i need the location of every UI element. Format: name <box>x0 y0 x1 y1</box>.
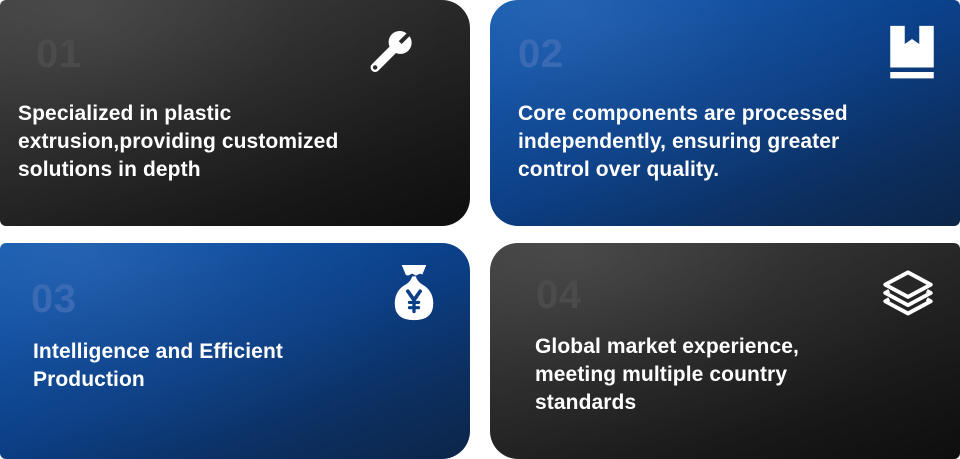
card-number-04: 04 <box>536 275 582 315</box>
book-bookmark-icon <box>886 24 938 82</box>
feature-card-03[interactable]: 03 Intelligence and Efficient Production <box>0 243 470 459</box>
feature-card-02[interactable]: 02 Core components are processed indepen… <box>490 0 960 226</box>
layers-stack-icon <box>880 268 936 324</box>
card-number-02: 02 <box>518 34 564 74</box>
feature-card-04[interactable]: 04 Global market experience, meeting mul… <box>490 243 960 459</box>
money-bag-yen-icon <box>386 262 442 324</box>
feature-card-01[interactable]: 01 Specialized in plastic extrusion,prov… <box>0 0 470 226</box>
card-title-04: Global market experience, meeting multip… <box>535 333 935 417</box>
card-content: 04 Global market experience, meeting mul… <box>490 243 960 459</box>
card-content: 03 Intelligence and Efficient Production <box>0 243 470 459</box>
card-number-01: 01 <box>36 34 82 74</box>
wrench-icon <box>364 27 418 81</box>
card-content: 01 Specialized in plastic extrusion,prov… <box>0 0 470 226</box>
card-title-01: Specialized in plastic extrusion,providi… <box>18 100 448 184</box>
feature-card-grid: 01 Specialized in plastic extrusion,prov… <box>0 0 960 459</box>
card-title-03: Intelligence and Efficient Production <box>33 338 443 394</box>
card-content: 02 Core components are processed indepen… <box>490 0 960 226</box>
card-title-02: Core components are processed independen… <box>518 100 950 184</box>
card-number-03: 03 <box>31 279 77 319</box>
